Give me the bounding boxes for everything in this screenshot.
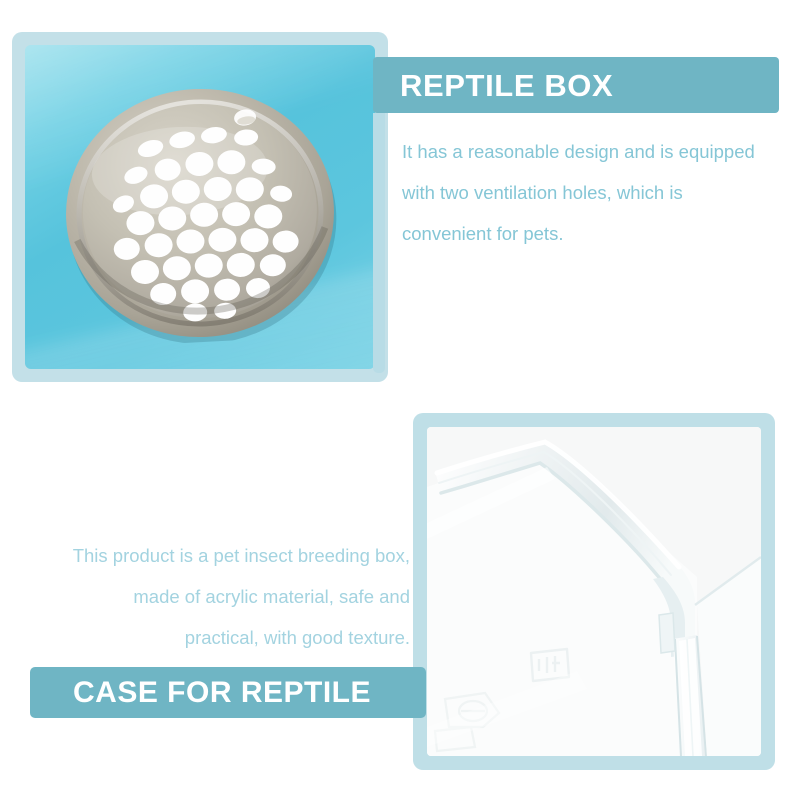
page-title: REPTILE BOX [373, 70, 613, 101]
description-top-line: with two ventilation holes, which is [402, 172, 792, 213]
title-banner: REPTILE BOX [373, 57, 779, 113]
bottom-banner: CASE FOR REPTILE [30, 667, 426, 718]
description-bottom-line: practical, with good texture. [18, 617, 410, 658]
description-top: It has a reasonable design and is equipp… [402, 131, 792, 254]
photo-acrylic-box-corner [427, 427, 761, 756]
product-marketing-image: REPTILE BOX It has a reasonable design a… [0, 0, 800, 800]
description-bottom-line: This product is a pet insect breeding bo… [18, 535, 410, 576]
ventilation-grate-illustration [55, 77, 344, 349]
acrylic-box-illustration [427, 427, 761, 756]
photo-frame-acrylic-corner [413, 413, 775, 770]
description-top-line: convenient for pets. [402, 213, 792, 254]
description-bottom-line: made of acrylic material, safe and [18, 576, 410, 617]
photo-ventilation-grate [25, 45, 375, 369]
accent-bar-vertical [373, 113, 385, 373]
photo-frame-ventilation-grate [12, 32, 388, 382]
bottom-banner-title: CASE FOR REPTILE [73, 678, 383, 708]
description-bottom: This product is a pet insect breeding bo… [18, 535, 410, 658]
description-top-line: It has a reasonable design and is equipp… [402, 131, 792, 172]
